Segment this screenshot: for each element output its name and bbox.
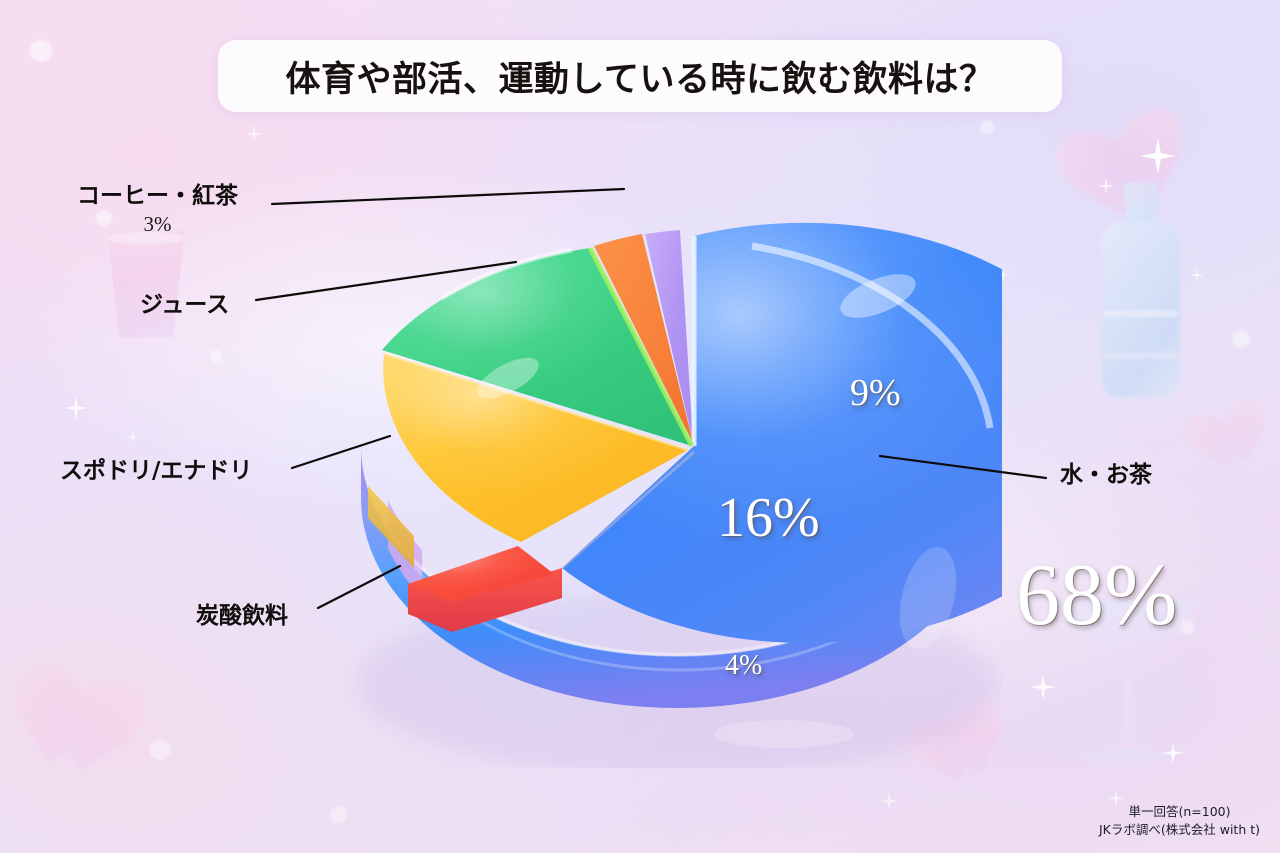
callout-soda: 炭酸飲料 bbox=[196, 603, 288, 629]
callout-water-tea: 水・お茶 bbox=[1060, 462, 1152, 488]
callout-coffee-tea-value: 3% bbox=[77, 212, 238, 236]
callout-soda-label: 炭酸飲料 bbox=[196, 603, 288, 629]
callout-coffee-tea: コーヒー・紅茶 3% bbox=[77, 183, 238, 237]
callout-juice-label: ジュース bbox=[140, 292, 229, 318]
footnote-source: JKラボ調べ(株式会社 with t) bbox=[1099, 821, 1260, 839]
callout-sports-energy-label: スポドリ/エナドリ bbox=[60, 458, 252, 484]
callout-coffee-tea-label: コーヒー・紅茶 bbox=[77, 183, 238, 209]
callout-juice: ジュース bbox=[140, 292, 229, 318]
footnote-sample-size: 単一回答(n=100) bbox=[1099, 803, 1260, 821]
callout-sports-energy: スポドリ/エナドリ bbox=[60, 458, 252, 484]
footnote: 単一回答(n=100) JKラボ調べ(株式会社 with t) bbox=[1099, 803, 1260, 839]
callout-water-tea-label: 水・お茶 bbox=[1060, 462, 1152, 488]
callout-leader-lines bbox=[0, 0, 1280, 853]
